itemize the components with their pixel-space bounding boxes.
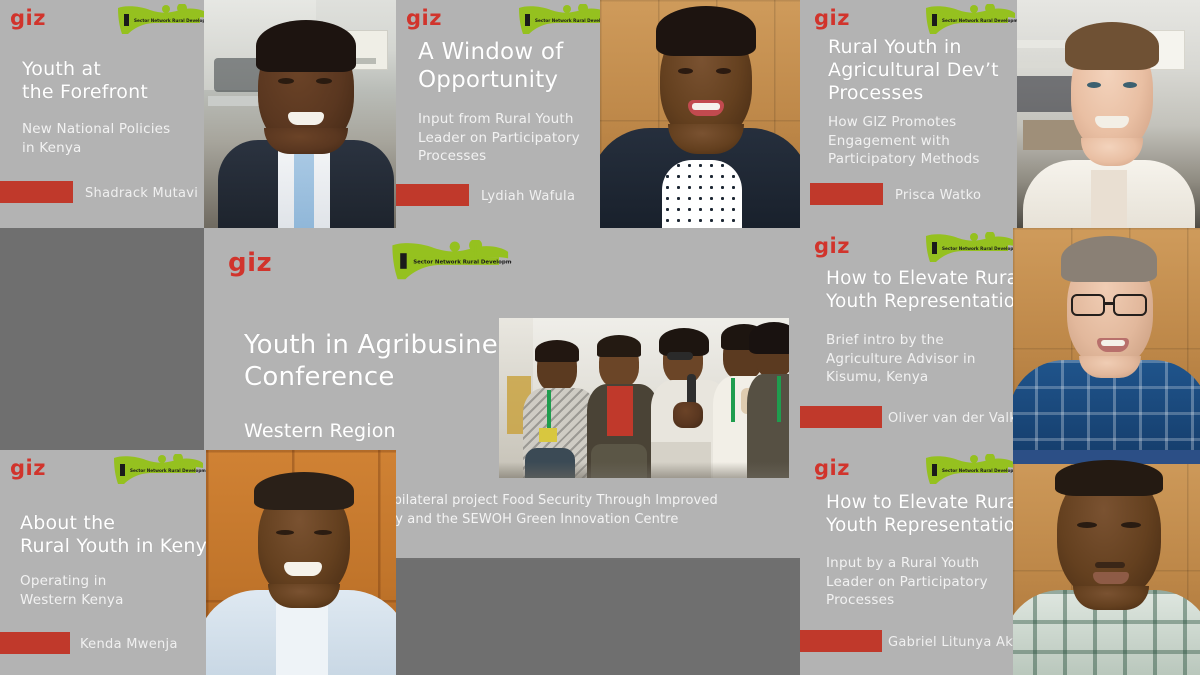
slide-subtitle: Input by a Rural Youth Leader on Partici… (826, 554, 1041, 610)
slide-title: How to Elevate Rural Youth Representatio… (826, 492, 1041, 537)
participant-tile-oliver-van-der-valk[interactable]: giz Sector Network Rural Development, Af… (800, 228, 1200, 450)
accent-bar (0, 181, 73, 203)
participant-tile-kenda-mwenja[interactable]: giz Sector Network Rural Development, Af… (0, 450, 396, 675)
speaker-name: Gabriel Litunya Akali (888, 635, 1029, 650)
main-slide-subtitle: Western Region (244, 418, 524, 444)
sector-network-africa-logo: Sector Network Rural Development, Africa (918, 232, 1018, 264)
accent-bar (0, 632, 70, 654)
svg-text:Sector Network Rural Developme: Sector Network Rural Development, Africa (942, 18, 1018, 23)
sector-network-africa-logo: Sector Network Rural Development, Africa (106, 454, 206, 486)
slide-subtitle: Operating in Western Kenya (20, 572, 235, 609)
giz-logo: giz (10, 8, 46, 29)
speaker-name: Kenda Mwenja (80, 637, 178, 652)
participant-tile-shadrack-mutavi[interactable]: giz Sector Network Rural Development, Af… (0, 0, 396, 228)
slide-subtitle: How GIZ Promotes Engagement with Partici… (828, 113, 1043, 169)
giz-logo: giz (406, 8, 442, 29)
participant-tile-prisca-watko[interactable]: giz Sector Network Rural Development, Af… (800, 0, 1200, 228)
participant-tile-lydiah-wafula[interactable]: giz Sector Network Rural Development, Af… (396, 0, 800, 228)
svg-text:Sector Network Rural Developme: Sector Network Rural Development, Africa (134, 18, 210, 23)
giz-logo: giz (10, 458, 46, 479)
slide-title: A Window of Opportunity (418, 38, 618, 94)
giz-logo: giz (814, 8, 850, 29)
sector-network-africa-logo: Sector Network Rural Development, Africa (918, 454, 1018, 486)
svg-text:Sector Network Rural Developme: Sector Network Rural Development, Africa (942, 468, 1018, 473)
speaker-name: Oliver van der Valk (888, 411, 1017, 426)
conference-photo (499, 318, 789, 478)
giz-logo: giz (814, 458, 850, 479)
slide-title: Rural Youth in Agricultural Dev’t Proces… (828, 36, 1033, 106)
svg-text:Sector Network Rural Developme: Sector Network Rural Development, Africa (413, 260, 512, 266)
slide-subtitle: Brief intro by the Agriculture Advisor i… (826, 331, 1041, 387)
accent-bar (800, 406, 882, 428)
svg-text:Sector Network Rural Developme: Sector Network Rural Development, Africa (942, 246, 1018, 251)
video-conference-stage: giz Sector Network Rural Development, Af… (0, 0, 1200, 675)
sector-network-africa-logo: Sector Network Rural Development, Africa (382, 240, 512, 282)
slide-title: How to Elevate Rural Youth Representatio… (826, 268, 1041, 313)
giz-logo: giz (814, 236, 850, 257)
giz-logo: giz (228, 250, 272, 276)
participant-tile-empty-bottom[interactable] (396, 560, 800, 675)
speaker-name: Lydiah Wafula (481, 189, 575, 204)
sector-network-africa-logo: Sector Network Rural Development, Africa (511, 4, 611, 36)
camera-feed-shadrack-mutavi[interactable] (204, 0, 396, 228)
sector-network-africa-logo: Sector Network Rural Development, Africa (110, 4, 210, 36)
camera-feed-prisca-watko[interactable] (1017, 0, 1200, 228)
accent-bar (396, 184, 469, 206)
camera-feed-gabriel-litunya-akali[interactable] (1013, 450, 1200, 675)
slide-subtitle: Input from Rural Youth Leader on Partici… (418, 110, 618, 166)
accent-bar (800, 630, 882, 652)
participant-tile-gabriel-litunya-akali[interactable]: giz Sector Network Rural Development, Af… (800, 450, 1200, 675)
slide-title: About the Rural Youth in Kenya (20, 512, 235, 558)
camera-feed-lydiah-wafula[interactable] (600, 0, 800, 228)
svg-text:Sector Network Rural Developme: Sector Network Rural Development, Africa (130, 468, 206, 473)
camera-feed-kenda-mwenja[interactable] (206, 450, 396, 675)
speaker-name: Shadrack Mutavi (85, 186, 198, 201)
camera-feed-oliver-van-der-valk[interactable] (1013, 228, 1200, 450)
accent-bar (810, 183, 883, 205)
speaker-name: Prisca Watko (895, 188, 981, 203)
participant-tile-empty-left[interactable] (0, 228, 204, 450)
slide-title: Youth at the Forefront (22, 58, 232, 104)
sector-network-africa-logo: Sector Network Rural Development, Africa (918, 4, 1018, 36)
